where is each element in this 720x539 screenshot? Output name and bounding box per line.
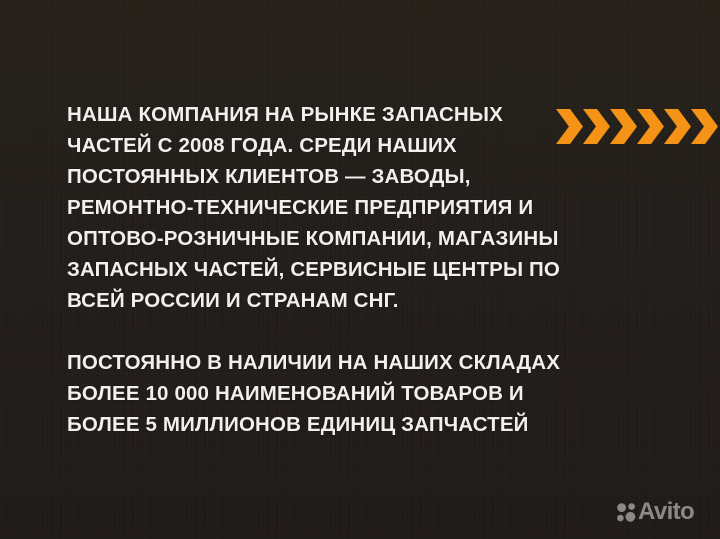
chevron-right-icon [664, 109, 691, 144]
promo-banner: НАША КОМПАНИЯ НА РЫНКЕ ЗАПАСНЫХ ЧАСТЕЙ С… [0, 0, 720, 539]
text-line: ОПТОВО-РОЗНИЧНЫЕ КОМПАНИИ, МАГАЗИНЫ [67, 223, 597, 254]
paragraph-about-company: НАША КОМПАНИЯ НА РЫНКЕ ЗАПАСНЫХ ЧАСТЕЙ С… [67, 99, 597, 316]
chevron-right-icon [637, 109, 664, 144]
text-line: ПОСТОЯННЫХ КЛИЕНТОВ — ЗАВОДЫ, [67, 161, 597, 192]
promo-text-block: НАША КОМПАНИЯ НА РЫНКЕ ЗАПАСНЫХ ЧАСТЕЙ С… [67, 99, 597, 440]
chevron-right-icon [610, 109, 637, 144]
text-line: ВСЕЙ РОССИИ И СТРАНАМ СНГ. [67, 285, 597, 316]
text-line: БОЛЕЕ 5 МИЛЛИОНОВ ЕДИНИЦ ЗАПЧАСТЕЙ [67, 409, 597, 440]
text-line: НАША КОМПАНИЯ НА РЫНКЕ ЗАПАСНЫХ [67, 99, 597, 130]
chevron-right-icon [691, 109, 718, 144]
avito-watermark: Avito [616, 500, 694, 524]
text-line: ЗАПАСНЫХ ЧАСТЕЙ, СЕРВИСНЫЕ ЦЕНТРЫ ПО [67, 254, 597, 285]
text-line: РЕМОНТНО-ТЕХНИЧЕСКИЕ ПРЕДПРИЯТИЯ И [67, 192, 597, 223]
text-line: ЧАСТЕЙ С 2008 ГОДА. СРЕДИ НАШИХ [67, 130, 597, 161]
text-line: БОЛЕЕ 10 000 НАИМЕНОВАНИЙ ТОВАРОВ И [67, 378, 597, 409]
avito-dots-icon [616, 502, 637, 523]
text-line: ПОСТОЯННО В НАЛИЧИИ НА НАШИХ СКЛАДАХ [67, 347, 597, 378]
avito-watermark-label: Avito [638, 500, 694, 524]
paragraph-stock-availability: ПОСТОЯННО В НАЛИЧИИ НА НАШИХ СКЛАДАХ БОЛ… [67, 347, 597, 440]
